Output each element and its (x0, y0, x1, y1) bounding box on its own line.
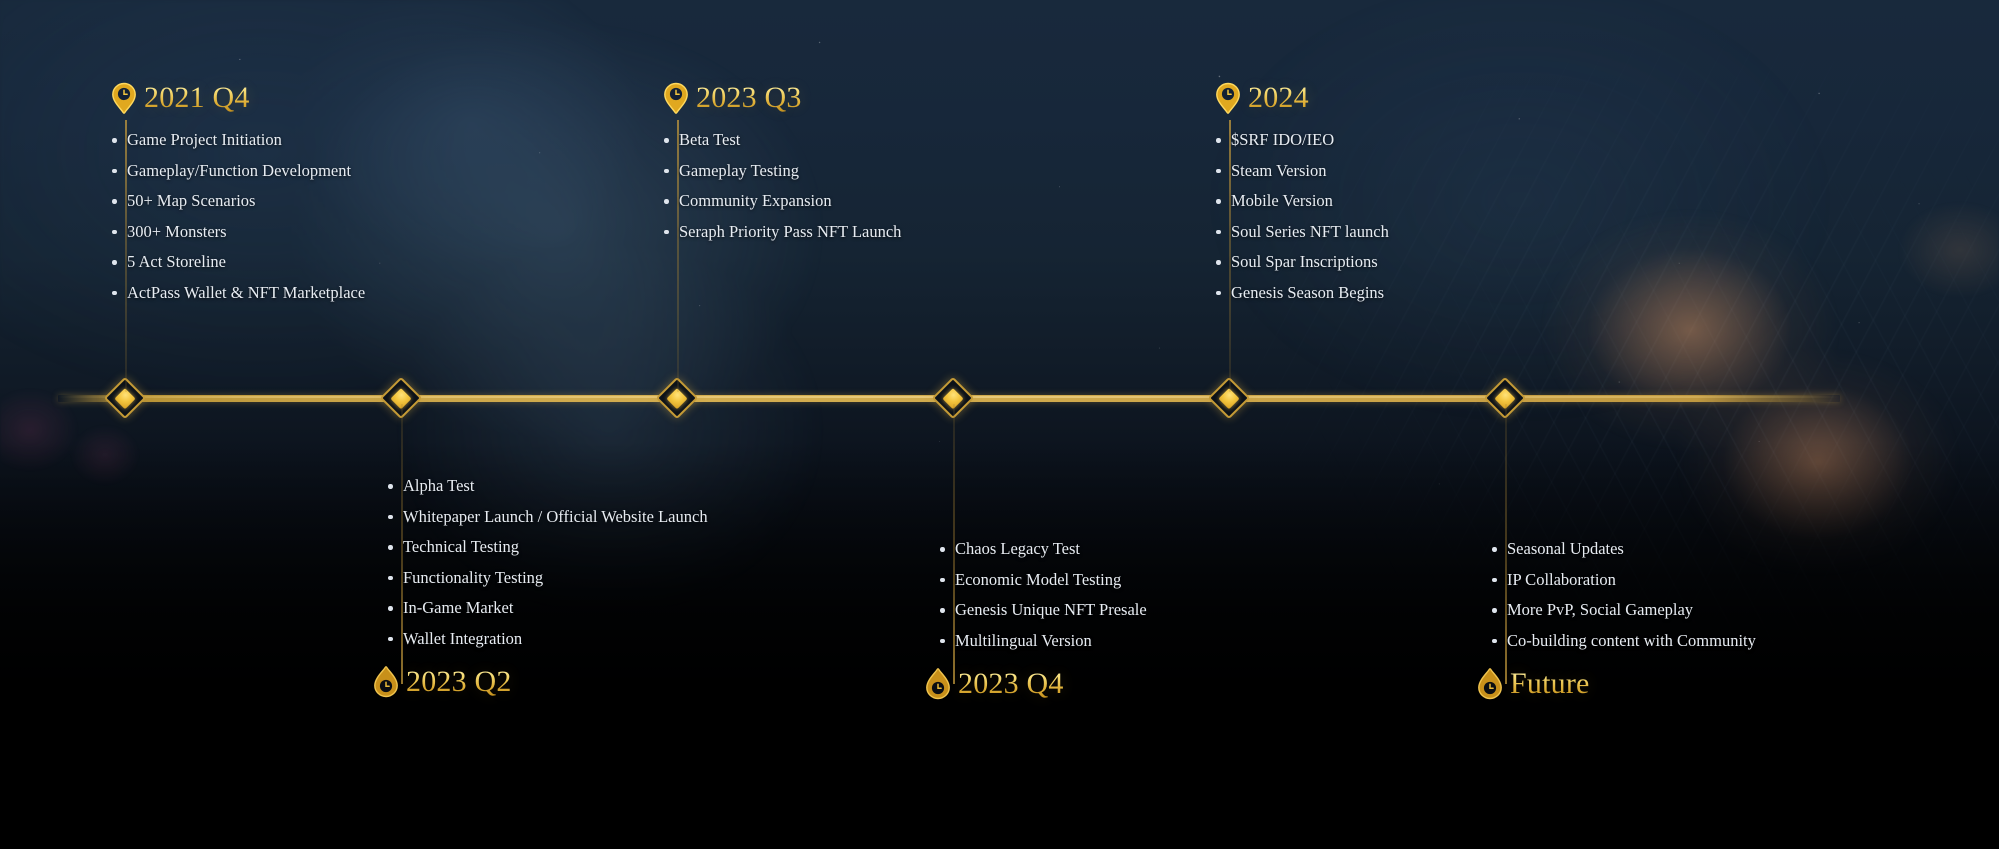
list-item: 50+ Map Scenarios (110, 193, 365, 210)
milestone-item-list: Chaos Legacy Test Economic Model Testing… (938, 541, 1147, 649)
list-item: Seasonal Updates (1490, 541, 1756, 558)
milestone-2023-q3[interactable]: 2023 Q3 Beta Test Gameplay Testing Commu… (662, 82, 901, 240)
list-item: Gameplay Testing (662, 163, 901, 180)
list-item: 5 Act Storeline (110, 254, 365, 271)
list-item: In-Game Market (386, 600, 708, 617)
clock-pin-icon (372, 666, 400, 698)
list-item: Co-building content with Community (1490, 633, 1756, 650)
clock-pin-icon (662, 82, 690, 114)
list-item: Mobile Version (1214, 193, 1389, 210)
list-item: Functionality Testing (386, 570, 708, 587)
milestone-item-list: $SRF IDO/IEO Steam Version Mobile Versio… (1214, 132, 1389, 301)
milestone-title: 2023 Q4 (958, 669, 1064, 699)
list-item: Community Expansion (662, 193, 901, 210)
list-item: IP Collaboration (1490, 572, 1756, 589)
list-item: Wallet Integration (386, 631, 708, 648)
clock-pin-icon (110, 82, 138, 114)
milestone-header: 2023 Q2 (372, 666, 708, 698)
clock-pin-icon (1476, 668, 1504, 700)
list-item: Multilingual Version (938, 633, 1147, 650)
milestone-title: 2024 (1248, 83, 1309, 113)
milestone-item-list: Game Project Initiation Gameplay/Functio… (110, 132, 365, 301)
milestone-title: Future (1510, 669, 1590, 699)
list-item: Game Project Initiation (110, 132, 365, 149)
milestone-future[interactable]: Seasonal Updates IP Collaboration More P… (1490, 541, 1756, 700)
milestone-header: 2023 Q3 (662, 82, 901, 114)
list-item: $SRF IDO/IEO (1214, 132, 1389, 149)
list-item: Gameplay/Function Development (110, 163, 365, 180)
list-item: Genesis Season Begins (1214, 285, 1389, 302)
list-item: Technical Testing (386, 539, 708, 556)
milestone-item-list: Alpha Test Whitepaper Launch / Official … (386, 478, 708, 647)
milestone-title: 2023 Q2 (406, 667, 512, 697)
list-item: Steam Version (1214, 163, 1389, 180)
milestone-2023-q2[interactable]: Alpha Test Whitepaper Launch / Official … (386, 478, 708, 698)
milestone-item-list: Seasonal Updates IP Collaboration More P… (1490, 541, 1756, 649)
list-item: Beta Test (662, 132, 901, 149)
roadmap-timeline: 2021 Q4 Game Project Initiation Gameplay… (0, 0, 1999, 849)
milestone-header: 2024 (1214, 82, 1389, 114)
list-item: 300+ Monsters (110, 224, 365, 241)
milestone-2024[interactable]: 2024 $SRF IDO/IEO Steam Version Mobile V… (1214, 82, 1389, 301)
milestone-title: 2023 Q3 (696, 83, 802, 113)
clock-pin-icon (924, 668, 952, 700)
milestone-header: 2021 Q4 (110, 82, 365, 114)
milestone-header: 2023 Q4 (924, 668, 1147, 700)
list-item: ActPass Wallet & NFT Marketplace (110, 285, 365, 302)
list-item: More PvP, Social Gameplay (1490, 602, 1756, 619)
list-item: Seraph Priority Pass NFT Launch (662, 224, 901, 241)
list-item: Economic Model Testing (938, 572, 1147, 589)
milestone-2023-q4[interactable]: Chaos Legacy Test Economic Model Testing… (938, 541, 1147, 700)
list-item: Genesis Unique NFT Presale (938, 602, 1147, 619)
milestone-2021-q4[interactable]: 2021 Q4 Game Project Initiation Gameplay… (110, 82, 365, 301)
clock-pin-icon (1214, 82, 1242, 114)
milestone-title: 2021 Q4 (144, 83, 250, 113)
list-item: Chaos Legacy Test (938, 541, 1147, 558)
list-item: Whitepaper Launch / Official Website Lau… (386, 509, 708, 526)
list-item: Soul Spar Inscriptions (1214, 254, 1389, 271)
list-item: Soul Series NFT launch (1214, 224, 1389, 241)
milestone-header: Future (1476, 668, 1756, 700)
list-item: Alpha Test (386, 478, 708, 495)
milestone-item-list: Beta Test Gameplay Testing Community Exp… (662, 132, 901, 240)
